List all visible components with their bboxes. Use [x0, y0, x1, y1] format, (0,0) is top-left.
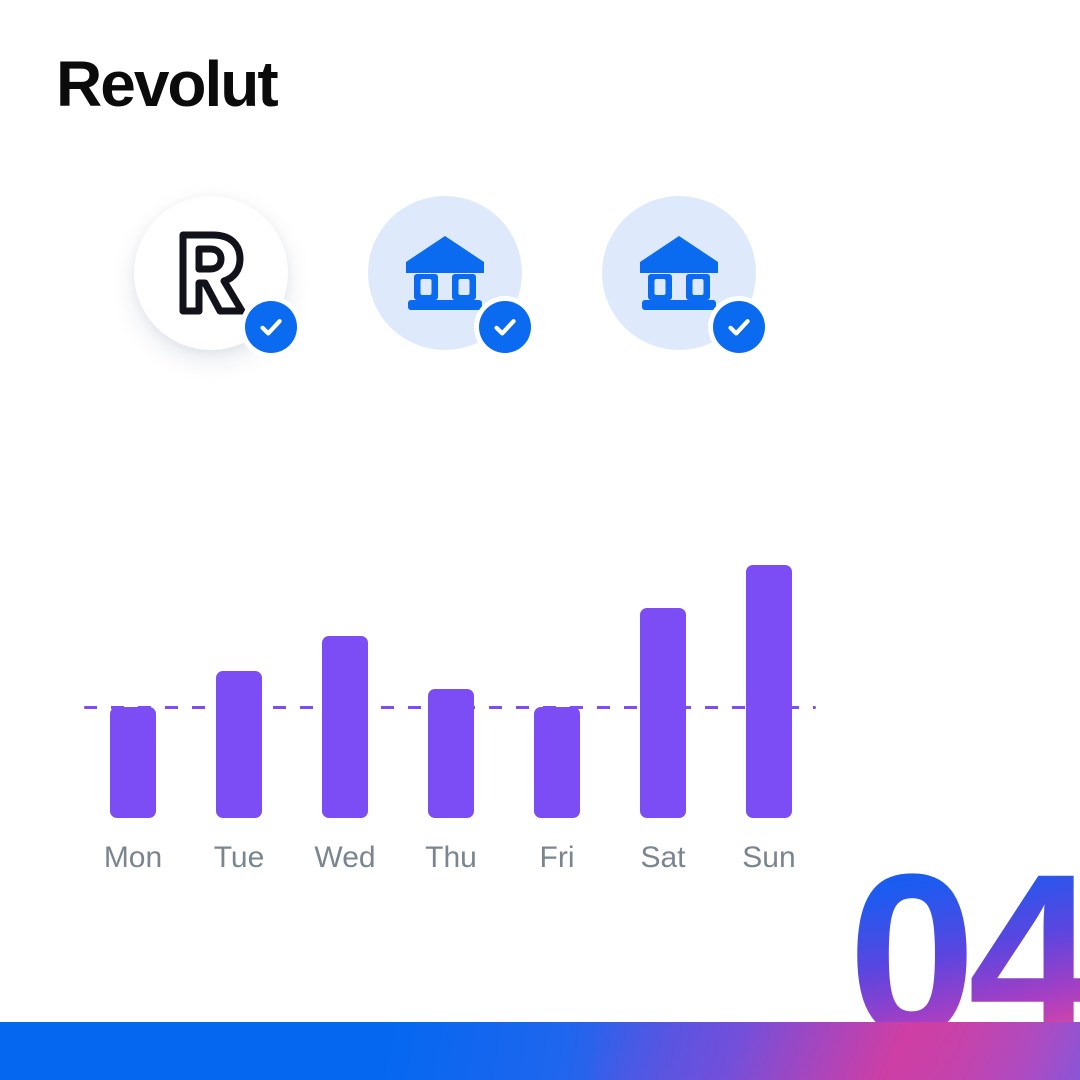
slide-canvas: Revolut MonTueWedThuFriSatSun 04: [0, 0, 1080, 1080]
account-badge-linked-bank-account-1[interactable]: [368, 196, 522, 350]
chart-bar-sun[interactable]: [746, 565, 792, 818]
chart-bar-mon[interactable]: [110, 707, 156, 818]
x-axis-label-mon: Mon: [78, 840, 188, 876]
chart-bar-tue[interactable]: [216, 671, 262, 818]
weekly-spending-chart: [0, 545, 1080, 825]
revolut-r-glyph: [175, 231, 247, 315]
chart-bar-fri[interactable]: [534, 707, 580, 818]
bank-building-glyph: [404, 234, 486, 312]
x-axis-label-sun: Sun: [714, 840, 824, 876]
chart-bar-wed[interactable]: [322, 636, 368, 818]
footer-gradient-bar: [0, 1022, 1080, 1080]
x-axis-label-tue: Tue: [184, 840, 294, 876]
chart-bar-sat[interactable]: [640, 608, 686, 818]
x-axis-label-fri: Fri: [502, 840, 612, 876]
x-axis-label-sat: Sat: [608, 840, 718, 876]
account-badge-revolut-account[interactable]: [134, 196, 288, 350]
check-icon: [256, 312, 286, 342]
connected-accounts-row: [0, 196, 1080, 406]
revolut-wordmark: Revolut: [56, 52, 277, 116]
average-dashed-line: [84, 706, 816, 709]
check-icon: [724, 312, 754, 342]
account-badge-linked-bank-account-2[interactable]: [602, 196, 756, 350]
verified-badge: [240, 296, 302, 358]
bank-building-glyph: [638, 234, 720, 312]
check-icon: [490, 312, 520, 342]
verified-badge: [474, 296, 536, 358]
x-axis-label-thu: Thu: [396, 840, 506, 876]
verified-badge: [708, 296, 770, 358]
x-axis-label-wed: Wed: [290, 840, 400, 876]
